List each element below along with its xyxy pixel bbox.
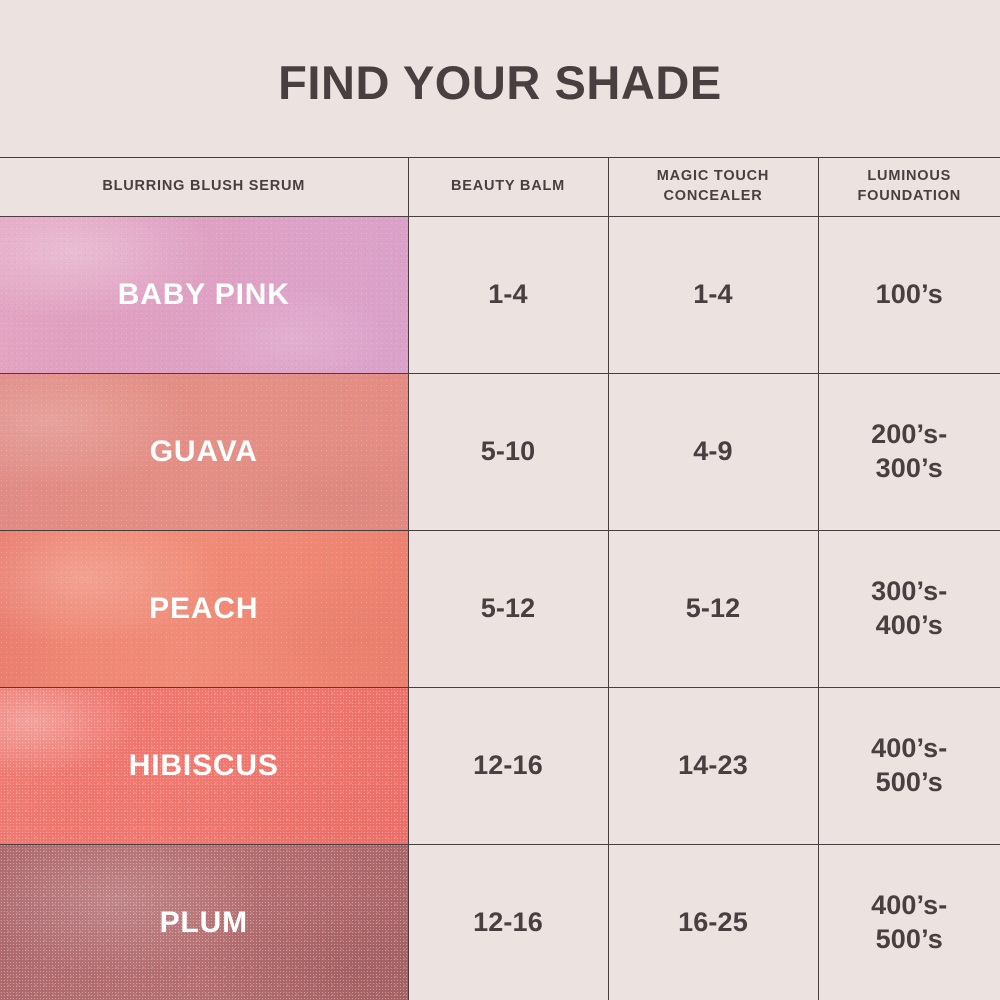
cell-luminous-foundation: 200’s-300’s: [818, 374, 1000, 531]
table-row: PLUM 12-16 16-25 400’s-500’s: [0, 845, 1000, 1000]
shade-name-label: HIBISCUS: [129, 747, 279, 785]
shade-swatch-plum: PLUM: [0, 845, 408, 1000]
cell-magic-touch-concealer: 1-4: [608, 217, 818, 374]
title-section: FIND YOUR SHADE: [0, 0, 1000, 157]
cell-magic-touch-concealer: 14-23: [608, 688, 818, 845]
table-row: HIBISCUS 12-16 14-23 400’s-500’s: [0, 688, 1000, 845]
shade-swatch-guava: GUAVA: [0, 374, 408, 531]
cell-luminous-foundation: 300’s-400’s: [818, 531, 1000, 688]
cell-magic-touch-concealer: 4-9: [608, 374, 818, 531]
page-title: FIND YOUR SHADE: [278, 51, 722, 106]
swatch-color-fill: PEACH: [0, 531, 408, 687]
cell-luminous-foundation: 400’s-500’s: [818, 688, 1000, 845]
swatch-color-fill: HIBISCUS: [0, 688, 408, 844]
column-header-beauty-balm: BEAUTY BALM: [408, 158, 608, 217]
table-row: GUAVA 5-10 4-9 200’s-300’s: [0, 374, 1000, 531]
cell-beauty-balm: 12-16: [408, 688, 608, 845]
swatch-color-fill: GUAVA: [0, 374, 408, 530]
cell-luminous-foundation: 400’s-500’s: [818, 845, 1000, 1000]
shade-name-label: PLUM: [160, 904, 248, 942]
cell-beauty-balm: 5-12: [408, 531, 608, 688]
table-row: PEACH 5-12 5-12 300’s-400’s: [0, 531, 1000, 688]
column-header-luminous-foundation: LUMINOUSFOUNDATION: [818, 158, 1000, 217]
cell-magic-touch-concealer: 5-12: [608, 531, 818, 688]
table-header: BLURRING BLUSH SERUM BEAUTY BALM MAGIC T…: [0, 158, 1000, 217]
swatch-color-fill: PLUM: [0, 845, 408, 1000]
shade-swatch-peach: PEACH: [0, 531, 408, 688]
table-header-row: BLURRING BLUSH SERUM BEAUTY BALM MAGIC T…: [0, 158, 1000, 217]
column-header-blurring-blush-serum: BLURRING BLUSH SERUM: [0, 158, 408, 217]
shade-name-label: BABY PINK: [118, 276, 290, 314]
column-header-magic-touch-concealer: MAGIC TOUCHCONCEALER: [608, 158, 818, 217]
cell-luminous-foundation: 100’s: [818, 217, 1000, 374]
cell-magic-touch-concealer: 16-25: [608, 845, 818, 1000]
shade-finder-page: FIND YOUR SHADE BLURRING BLUSH SERUM BEA…: [0, 0, 1000, 1000]
shade-name-label: GUAVA: [150, 433, 258, 471]
shade-match-table: BLURRING BLUSH SERUM BEAUTY BALM MAGIC T…: [0, 157, 1000, 1000]
cell-beauty-balm: 12-16: [408, 845, 608, 1000]
shade-swatch-hibiscus: HIBISCUS: [0, 688, 408, 845]
cell-beauty-balm: 1-4: [408, 217, 608, 374]
shade-swatch-baby-pink: BABY PINK: [0, 217, 408, 374]
table-body: BABY PINK 1-4 1-4 100’s GUAVA 5-10 4-9: [0, 217, 1000, 1000]
cell-beauty-balm: 5-10: [408, 374, 608, 531]
swatch-color-fill: BABY PINK: [0, 217, 408, 373]
table-row: BABY PINK 1-4 1-4 100’s: [0, 217, 1000, 374]
shade-name-label: PEACH: [149, 590, 258, 628]
